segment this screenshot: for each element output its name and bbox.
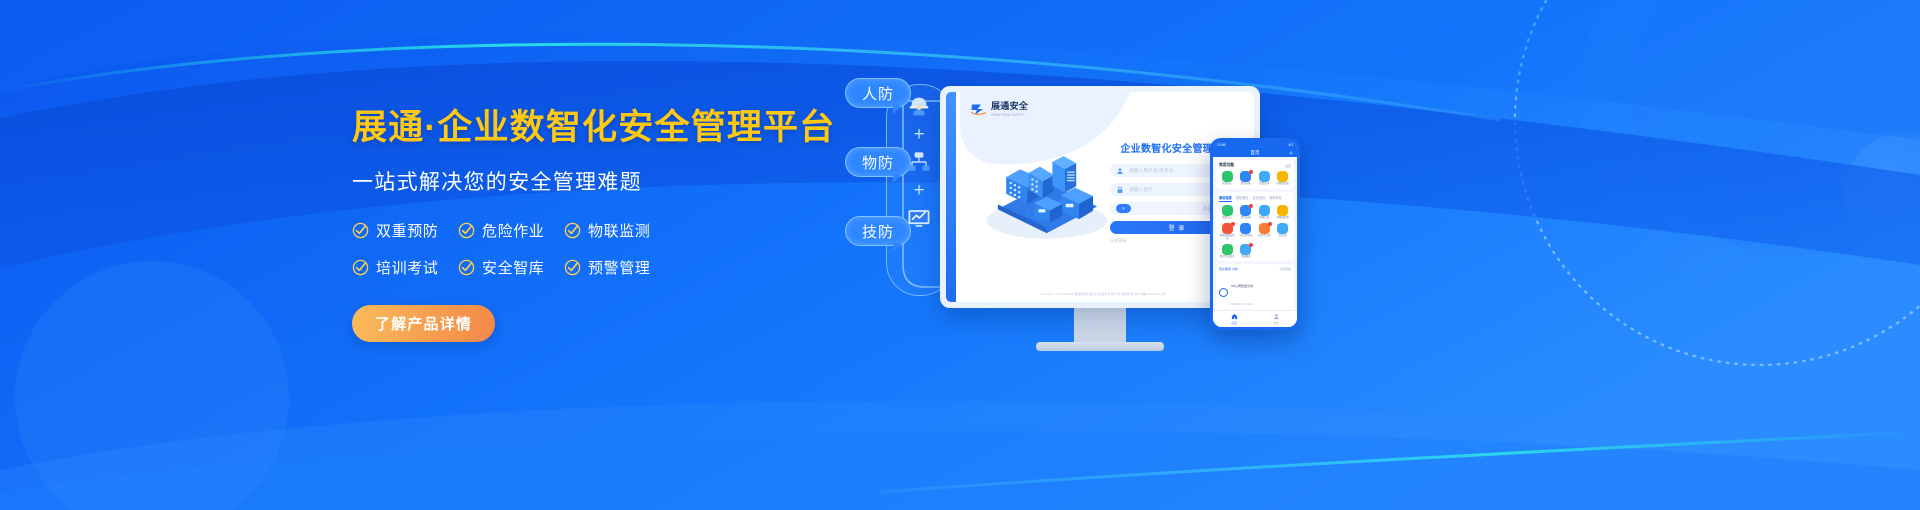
app-tile[interactable]: 隐患录入	[1219, 205, 1236, 220]
app-tile-label: 台账报表	[1241, 256, 1251, 259]
brand-logo: 展通安全 ZHANTONG SAFETY	[970, 102, 1028, 117]
hazard-entry-icon	[1222, 171, 1233, 182]
app-tile[interactable]: 待整改隐患	[1275, 205, 1292, 220]
copyright-footer: Copyright © 2019-2024 展通信息科技(上海)股份有限公司 版…	[960, 292, 1246, 296]
feature-item: 培训考试	[352, 257, 458, 278]
password-placeholder: 请输入密码	[1129, 187, 1153, 193]
feature-item: 双重预防	[352, 220, 458, 241]
app-tile[interactable]: 我已完成任务	[1219, 244, 1236, 259]
pending-rectify-icon	[1277, 205, 1288, 216]
list-item-time: 2024-05-28 17:41:42	[1231, 303, 1253, 306]
slider-icon: »	[1116, 204, 1131, 213]
phone-screen: 13:56 4G 首页 常用功能 设置 隐患录入	[1213, 141, 1297, 327]
todo-list-header: 待办事项 (2条) 今日动态	[1219, 267, 1291, 271]
app-tile[interactable]: 隐患分配	[1238, 205, 1255, 220]
check-circle-icon	[352, 259, 369, 276]
status-time: 13:56	[1217, 143, 1226, 147]
app-tile-label: 隐患录入	[1222, 217, 1232, 220]
common-functions-grid: 隐患录入 隐患分配 隐患记录 待整改隐患	[1219, 171, 1291, 186]
app-tile-label: 隐患分配	[1241, 217, 1251, 220]
mobile-phone-mockup: 13:56 4G 首页 常用功能 设置 隐患录入	[1210, 138, 1300, 330]
app-tile[interactable]: 验收中	[1275, 223, 1292, 241]
check-circle-icon	[352, 222, 369, 239]
worker-helmet-icon	[898, 88, 940, 124]
page-title: 展通·企业数智化安全管理平台	[352, 106, 822, 150]
tab-special-work[interactable]: 特种作业	[1269, 195, 1282, 202]
pending-rectify-icon	[1277, 171, 1288, 182]
phone-tab-bar: 首页 我的	[1213, 310, 1297, 327]
app-tile-label: 作业票申请	[1239, 235, 1252, 238]
common-functions-header: 常用功能 设置	[1219, 163, 1291, 168]
app-tile-label: 超期未整改隐患	[1219, 235, 1236, 241]
check-circle-icon	[458, 259, 475, 276]
badge-label: 物防	[862, 152, 894, 173]
app-tile-label: 待整改隐患	[1276, 217, 1289, 220]
feature-label: 安全智库	[482, 257, 544, 278]
common-functions-more[interactable]: 设置	[1285, 164, 1291, 168]
common-functions-title: 常用功能	[1219, 163, 1234, 168]
badge-label: 技防	[862, 221, 894, 242]
module-tab-list: 事故隐患 风险管控 安全目标 特种作业	[1219, 195, 1291, 202]
username-placeholder: 请输入用户名/手机号	[1129, 168, 1174, 174]
tabbar-item-profile[interactable]: 我的	[1255, 311, 1297, 327]
app-tile-label: 隐患记录	[1259, 217, 1269, 220]
notification-badge	[1249, 204, 1253, 208]
feature-label: 培训考试	[376, 257, 438, 278]
monitor-base	[1036, 342, 1164, 351]
status-signal: 4G	[1288, 143, 1293, 147]
monitor-neck	[1074, 308, 1126, 342]
app-tile-label: 隐患录入	[1222, 183, 1232, 186]
plus-separator-1: +	[898, 124, 940, 144]
phone-nav-bar: 首页	[1213, 148, 1297, 157]
app-tile[interactable]: 隐患分配	[1238, 171, 1255, 186]
feature-list: 双重预防 危险作业 物联监测 培训考试 安全智库 预警管理	[352, 220, 822, 278]
learn-more-label: 了解产品详情	[375, 313, 472, 334]
app-tile[interactable]: 超期未整改隐患	[1219, 223, 1236, 241]
common-functions-card: 常用功能 设置 隐患录入 隐患分配 隐患记录	[1216, 160, 1294, 189]
module-tabs-card: 事故隐患 风险管控 安全目标 特种作业 隐患录入 隐患分配	[1216, 192, 1294, 262]
hazard-record-icon	[1259, 171, 1270, 182]
feature-label: 危险作业	[482, 220, 544, 241]
remember-password-checkbox[interactable]: 记住密码	[1110, 238, 1127, 244]
notification-badge	[1249, 243, 1253, 247]
monitor-chart-icon	[898, 200, 940, 236]
work-permit-icon	[1240, 223, 1251, 234]
check-circle-icon	[458, 222, 475, 239]
user-icon	[1116, 167, 1124, 175]
app-tile-label: 我已完成任务	[1220, 256, 1235, 259]
tabbar-item-home[interactable]: 首页	[1213, 311, 1255, 327]
accepting-icon	[1277, 223, 1288, 234]
hazard-entry-icon	[1222, 205, 1233, 216]
tabbar-label: 我的	[1273, 321, 1278, 325]
app-tile[interactable]: 台账报表	[1238, 244, 1255, 259]
isometric-factory-illustration	[974, 150, 1114, 242]
brand-name: 展通安全	[991, 102, 1028, 111]
list-item[interactable]: XX公司隐患分派 2024-05-28 17:41:42	[1219, 274, 1291, 310]
app-tile[interactable]: 待整改隐患	[1275, 171, 1292, 186]
list-item-icon	[1219, 288, 1228, 297]
feature-label: 预警管理	[588, 257, 650, 278]
feature-item: 危险作业	[458, 220, 564, 241]
feature-item: 物联监测	[564, 220, 670, 241]
list-item-title: XX公司隐患分派	[1231, 284, 1253, 288]
brand-mark-icon	[970, 103, 987, 116]
equipment-rack-icon	[898, 144, 940, 180]
tabbar-label: 首页	[1231, 321, 1236, 325]
tab-risk-control[interactable]: 风险管控	[1236, 195, 1249, 202]
app-tile[interactable]: 隐患记录	[1256, 205, 1273, 220]
check-circle-icon	[564, 259, 581, 276]
hero-copy: 展通·企业数智化安全管理平台 一站式解决您的安全管理难题 双重预防 危险作业 物…	[352, 106, 822, 342]
feature-item: 预警管理	[564, 257, 670, 278]
todo-count-left: 待办事项 (2条)	[1219, 267, 1239, 271]
hero-banner: 展通·企业数智化安全管理平台 一站式解决您的安全管理难题 双重预防 危险作业 物…	[0, 0, 1920, 510]
app-tile[interactable]: 复查不合格	[1256, 223, 1273, 241]
person-icon	[1273, 313, 1280, 320]
badge-label: 人防	[862, 83, 894, 104]
page-subtitle: 一站式解决您的安全管理难题	[352, 166, 822, 196]
hazard-record-icon	[1259, 205, 1270, 216]
feature-label: 双重预防	[376, 220, 438, 241]
tab-safety-goal[interactable]: 安全目标	[1253, 195, 1266, 202]
notification-badge	[1268, 222, 1272, 226]
lock-icon	[1116, 186, 1124, 194]
tab-accident-hazard[interactable]: 事故隐患	[1219, 195, 1232, 202]
brand-subtitle: ZHANTONG SAFETY	[991, 113, 1028, 117]
gear-icon[interactable]	[1289, 151, 1293, 155]
phone-nav-title: 首页	[1250, 150, 1259, 156]
completed-task-icon	[1222, 244, 1233, 255]
app-tile-label: 待整改隐患	[1276, 183, 1289, 186]
learn-more-button[interactable]: 了解产品详情	[352, 305, 495, 342]
phone-status-bar: 13:56 4G	[1213, 141, 1297, 148]
notification-badge	[1231, 222, 1235, 226]
app-tile-label: 隐患分配	[1241, 183, 1251, 186]
app-tile[interactable]: 作业票申请	[1238, 223, 1255, 241]
plus-separator-2: +	[898, 180, 940, 200]
feature-label: 物联监测	[588, 220, 650, 241]
defense-icon-stack: + +	[898, 88, 944, 236]
home-icon	[1231, 313, 1238, 320]
check-circle-icon	[564, 222, 581, 239]
screen-left-accent-bar	[946, 92, 956, 302]
monitor-screen: 展通安全 ZHANTONG SAFETY	[946, 92, 1254, 302]
feature-item: 安全智库	[458, 257, 564, 278]
module-app-grid: 隐患录入 隐患分配 隐患记录 待整改隐患	[1219, 205, 1291, 259]
app-tile-label: 复查不合格	[1258, 235, 1271, 238]
app-tile[interactable]: 隐患录入	[1219, 171, 1236, 186]
app-tile-label: 隐患记录	[1259, 183, 1269, 186]
app-tile-label: 验收中	[1279, 235, 1287, 238]
notification-badge	[1249, 170, 1253, 174]
todo-today: 今日动态	[1279, 267, 1291, 271]
app-tile[interactable]: 隐患记录	[1256, 171, 1273, 186]
login-button-label: 登 录	[1169, 223, 1186, 232]
